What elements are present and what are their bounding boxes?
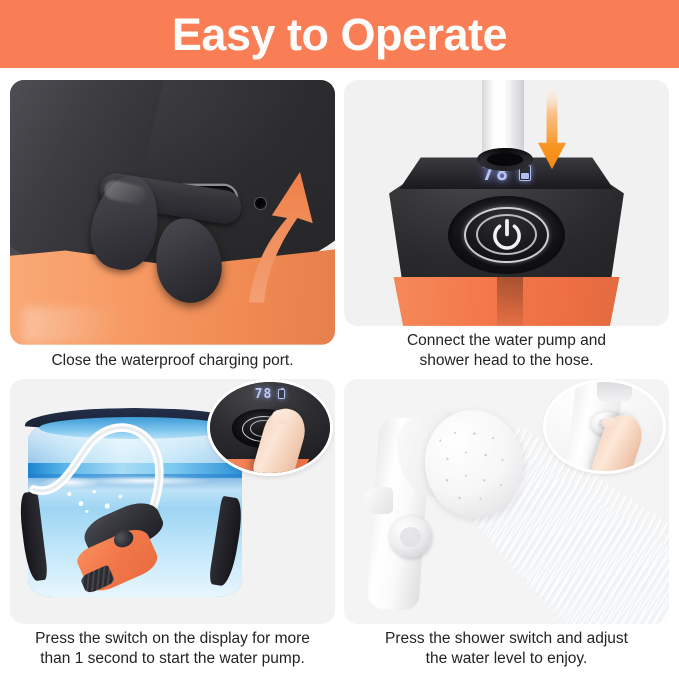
header-banner: Easy to Operate [0, 0, 679, 68]
page-title: Easy to Operate [172, 12, 507, 57]
inset-display-panel: 78 [232, 388, 309, 402]
caption-line-1: Press the switch on the display for more [10, 629, 335, 649]
inset-display-value: 78 [255, 388, 273, 401]
photo-press-switch-start-pump: 78 [10, 379, 335, 625]
battery-icon [278, 389, 285, 399]
caption-line-2: shower head to the hose. [344, 351, 669, 371]
caption-press-switch-start-pump: Press the switch on the display for more… [10, 624, 335, 669]
caption-connect-pump-hose: Connect the water pump and shower head t… [344, 326, 669, 371]
power-icon [489, 216, 524, 254]
hose-inlet-tab [364, 487, 393, 514]
down-arrow-icon [526, 82, 578, 175]
shower-switch-knob[interactable] [390, 516, 432, 558]
inset-press-shower-switch [546, 382, 663, 471]
hose-socket [487, 153, 522, 166]
inset-shower-head-edge [597, 382, 632, 401]
pump-body-orange [386, 277, 627, 326]
power-button[interactable] [448, 196, 565, 275]
caption-line-1: Press the shower switch and adjust [344, 629, 669, 649]
caption-line-1: Connect the water pump and [344, 331, 669, 351]
photo-press-shower-switch [344, 379, 669, 625]
hose-connector-collar [477, 148, 532, 171]
step-panel-close-charging-port: Close the waterproof charging port. [10, 80, 335, 371]
photo-connect-pump-hose: 78 [344, 80, 669, 326]
inset-press-power-button: 78 [210, 382, 330, 473]
step-panel-press-switch-start-pump: 78 Press the switch on the display for m… [10, 379, 335, 670]
step-panel-connect-pump-hose: 78 [344, 80, 669, 371]
curved-up-arrow-icon [234, 154, 325, 308]
orange-highlight [23, 307, 121, 343]
caption-close-charging-port: Close the waterproof charging port. [10, 345, 335, 371]
steps-grid: Close the waterproof charging port. 78 [0, 68, 679, 673]
photo-close-charging-port [10, 80, 335, 345]
caption-press-shower-switch: Press the shower switch and adjust the w… [344, 624, 669, 669]
caption-line-2: the water level to enjoy. [344, 649, 669, 669]
caption-line-2: than 1 second to start the water pump. [10, 649, 335, 669]
shower-nozzle-holes [428, 415, 520, 514]
step-panel-press-shower-switch: Press the shower switch and adjust the w… [344, 379, 669, 670]
